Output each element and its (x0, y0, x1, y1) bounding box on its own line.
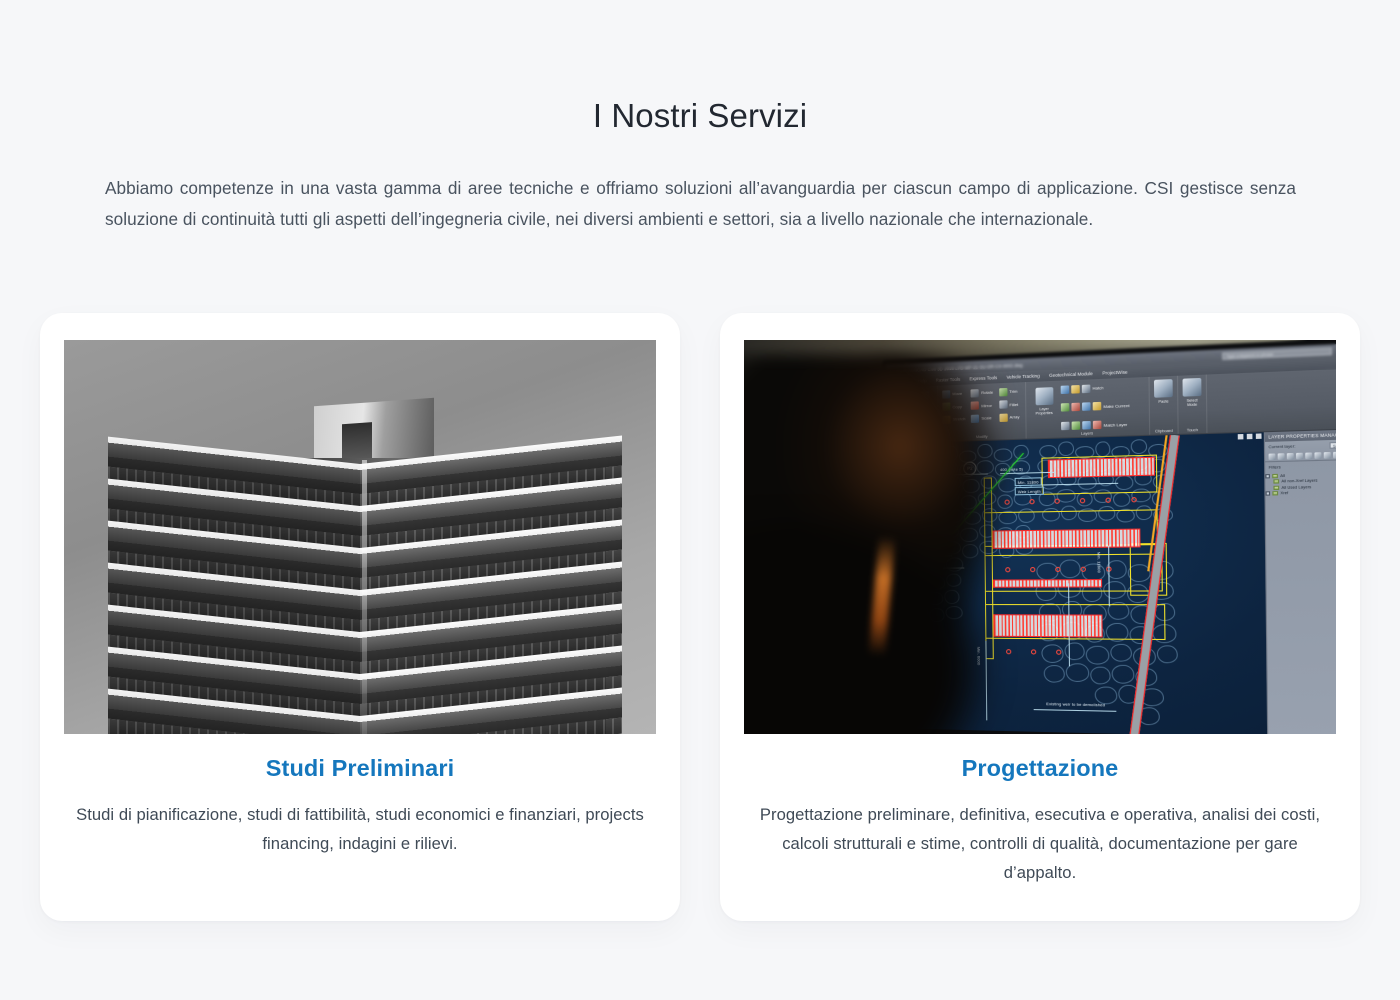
ribbon-tab-projectwise[interactable]: ProjectWise (1102, 369, 1127, 375)
new-property-filter-icon[interactable] (1314, 452, 1321, 459)
folder-icon (1272, 473, 1278, 477)
layer-state-icon[interactable] (1061, 385, 1070, 394)
minimize-icon[interactable] (1238, 434, 1244, 440)
expand-collapse-icon[interactable] (1265, 474, 1270, 478)
new-layer-vp-frozen-icon[interactable] (1278, 453, 1285, 460)
tree-node-all-non-xref-layers[interactable]: All non-Xref Layers (1265, 477, 1336, 484)
refresh-icon[interactable] (1305, 452, 1312, 459)
layer-merge-icon[interactable] (1061, 422, 1070, 431)
service-cards-grid: Studi Preliminari Studi di pianificazion… (40, 313, 1360, 921)
new-layer-icon[interactable] (1269, 453, 1276, 460)
ribbon-panel-layers: Layer Properties Hatch Make Current Matc… (1026, 377, 1150, 439)
rock-marker (1054, 499, 1059, 504)
tree-node-all[interactable]: All (1265, 471, 1336, 478)
new-group-filter-icon[interactable] (1324, 451, 1331, 458)
page-title: I Nostri Servizi (0, 97, 1400, 135)
select-mode-label[interactable]: Select Mode (1183, 398, 1202, 408)
layer-properties-icon[interactable] (1035, 387, 1053, 405)
card-body: Studi Preliminari Studi di pianificazion… (64, 734, 656, 892)
section-intro-paragraph: Abbiamo competenze in una vasta gamma di… (105, 173, 1296, 235)
filters-tree[interactable]: All All non-Xref Layers Al (1265, 471, 1336, 496)
match-layer-icon[interactable] (1093, 421, 1102, 430)
card-description: Progettazione preliminare, definitiva, e… (750, 800, 1330, 887)
services-section: I Nostri Servizi Abbiamo competenze in u… (0, 0, 1400, 1000)
layer-off-icon[interactable] (1061, 403, 1070, 412)
card-title: Studi Preliminari (70, 755, 650, 782)
weir-hatch (1048, 457, 1155, 478)
cad-workstation-photo-illustration: Autodesk AutoCAD Civil 3D 2018 LFD-MP-21… (744, 340, 1336, 734)
layer-states-manager-icon[interactable] (1333, 451, 1336, 458)
layer-lock-icon[interactable] (1082, 384, 1091, 393)
set-current-icon[interactable] (1296, 452, 1303, 459)
ribbon-tab-geotechnical-module[interactable]: Geotechnical Module (1049, 371, 1093, 378)
paste-label[interactable]: Paste (1158, 399, 1168, 404)
card-image-progettazione: Autodesk AutoCAD Civil 3D 2018 LFD-MP-21… (744, 340, 1336, 734)
tree-node-label: All non-Xref Layers (1281, 478, 1317, 483)
building-corner-highlight (362, 460, 367, 734)
tree-node-all-used-layers[interactable]: All Used Layers (1265, 483, 1336, 490)
card-image-studi-preliminari (64, 340, 656, 734)
rock-marker (1056, 650, 1061, 655)
tree-node-xref[interactable]: Xref (1266, 489, 1336, 496)
folder-icon (1273, 479, 1279, 483)
select-mode-icon[interactable] (1182, 378, 1201, 397)
card-title: Progettazione (750, 755, 1330, 782)
match-layer-label[interactable]: Match Layer (1104, 421, 1128, 427)
rock-marker (1080, 498, 1085, 503)
maximize-icon[interactable] (1247, 434, 1253, 440)
make-current-icon[interactable] (1093, 402, 1102, 411)
tree-node-label: All (1280, 473, 1285, 477)
service-card-progettazione[interactable]: Autodesk AutoCAD Civil 3D 2018 LFD-MP-21… (720, 313, 1360, 921)
rock-marker (1081, 567, 1086, 572)
rock-marker (1105, 498, 1110, 503)
drawing-window-controls[interactable] (1238, 433, 1262, 439)
layer-properties-button[interactable]: Layer Properties (1030, 384, 1058, 439)
layer-properties-manager-palette[interactable]: LAYER PROPERTIES MANAGER Current layer: … (1264, 429, 1336, 734)
ribbon-panel-touch: Select Mode Touch (1178, 375, 1207, 434)
ribbon-panel-label: Clipboard (1150, 429, 1177, 434)
layer-freeze-icon[interactable] (1071, 384, 1080, 393)
tree-node-label: Xref (1280, 491, 1288, 495)
layer-properties-label[interactable]: Layer Properties (1030, 406, 1057, 416)
paste-icon[interactable] (1154, 379, 1173, 398)
layer-isolate-icon[interactable] (1071, 403, 1080, 412)
filters-label: Filters (1265, 459, 1336, 472)
layer-on-icon[interactable] (1082, 403, 1091, 412)
ribbon-panel-label: Touch (1179, 428, 1207, 433)
expand-collapse-icon[interactable] (1266, 491, 1271, 495)
dimension-text: Min. 11800 (1096, 552, 1102, 573)
rock-marker (1055, 567, 1060, 572)
dimension-text: Min. 11800 (1015, 477, 1042, 486)
current-layer-label: Current layer: (1268, 443, 1295, 449)
layer-search-input[interactable]: Search for layer (1329, 440, 1336, 448)
layer-delete-icon[interactable] (1072, 421, 1081, 430)
delete-layer-icon[interactable] (1287, 452, 1294, 459)
dimension-text: Weir Length (1015, 487, 1044, 496)
folder-icon (1273, 485, 1279, 489)
autocad-search-input[interactable]: Type a keyword or phrase (1222, 347, 1332, 359)
card-description: Studi di pianificazione, studi di fattib… (70, 800, 650, 858)
tree-node-label: All Used Layers (1281, 484, 1311, 489)
service-card-studi-preliminari[interactable]: Studi Preliminari Studi di pianificazion… (40, 313, 680, 921)
close-icon[interactable] (1256, 433, 1262, 439)
card-body: Progettazione Progettazione preliminare,… (744, 734, 1336, 921)
building-photo-illustration (64, 340, 656, 734)
make-current-label[interactable]: Make Current (1103, 403, 1129, 409)
folder-icon (1272, 491, 1278, 495)
layer-walk-icon[interactable] (1082, 421, 1091, 430)
hatch-label[interactable]: Hatch (1092, 385, 1103, 391)
rock-marker (1029, 499, 1034, 504)
ribbon-panel-clipboard: Paste Clipboard (1150, 376, 1179, 435)
